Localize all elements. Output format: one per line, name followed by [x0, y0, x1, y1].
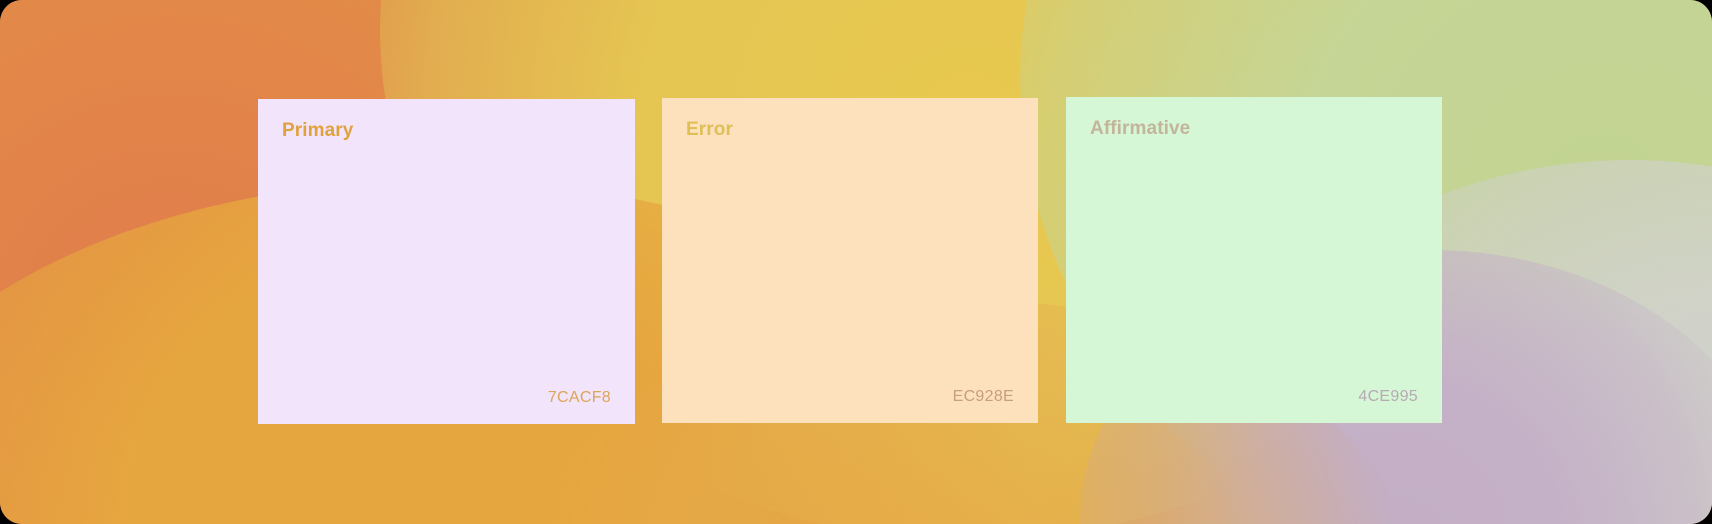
- color-swatch-error[interactable]: Error EC928E: [662, 98, 1038, 423]
- swatch-label-affirmative: Affirmative: [1090, 119, 1418, 138]
- swatch-hex-error: EC928E: [953, 389, 1014, 405]
- swatch-hex-primary: 7CACF8: [548, 390, 611, 406]
- color-swatch-affirmative[interactable]: Affirmative 4CE995: [1066, 97, 1442, 423]
- swatch-label-primary: Primary: [282, 121, 611, 140]
- gradient-canvas: Primary 7CACF8 Error EC928E Affirmative …: [0, 0, 1712, 524]
- swatch-hex-affirmative: 4CE995: [1358, 389, 1418, 405]
- swatch-label-error: Error: [686, 120, 1014, 139]
- color-swatch-primary[interactable]: Primary 7CACF8: [258, 99, 635, 424]
